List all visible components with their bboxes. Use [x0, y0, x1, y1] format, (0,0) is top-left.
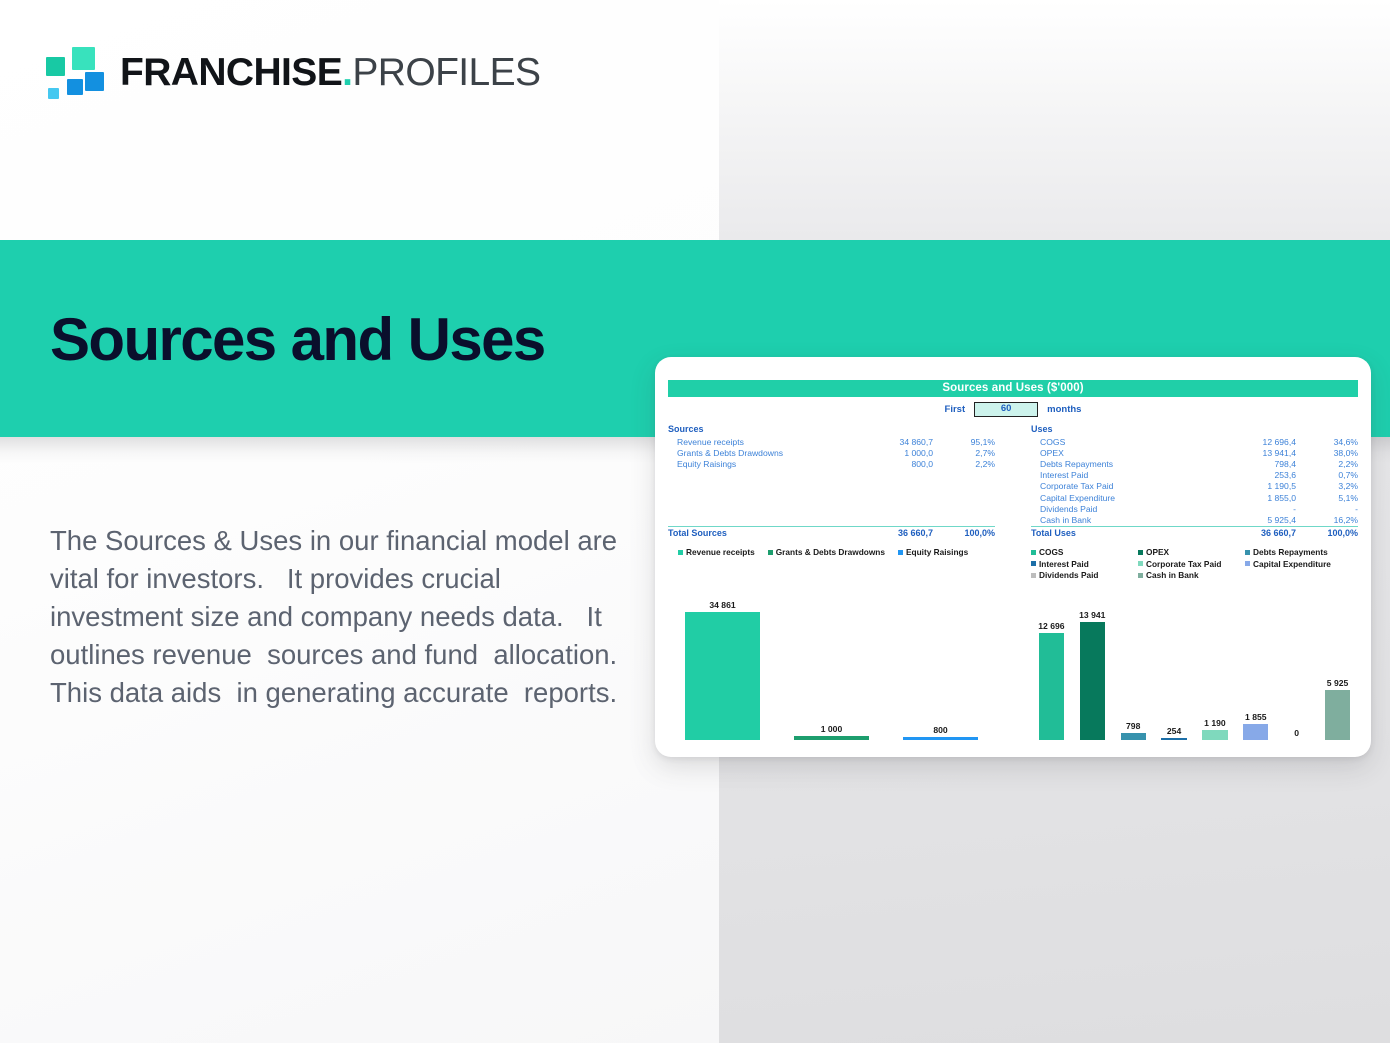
sources-table: Sources Revenue receipts 34 860,7 95,1% …	[668, 424, 995, 540]
uses-table: Uses COGS 12 696,4 34,6% OPEX 13 941,4 3…	[1031, 424, 1358, 540]
legend-swatch-icon	[1031, 573, 1036, 578]
row-label: Corporate Tax Paid	[1031, 481, 1218, 491]
spacer	[668, 481, 995, 492]
legend-swatch-icon	[678, 550, 683, 555]
bar-value-label: 13 941	[1079, 610, 1105, 620]
legend-swatch-icon	[768, 550, 773, 555]
bar-rect	[1121, 733, 1146, 740]
row-label: Dividends Paid	[1031, 504, 1218, 514]
row-percent: 2,2%	[933, 459, 995, 469]
brand-logo[interactable]: FRANCHISE.PROFILES	[46, 44, 540, 100]
row-value: 13 941,4	[1218, 448, 1296, 458]
table-row: Corporate Tax Paid 1 190,5 3,2%	[1031, 481, 1358, 492]
brand-name-bold: FRANCHISE	[120, 51, 342, 94]
bar-value-label: 5 925	[1327, 678, 1349, 688]
bar-column[interactable]: 0	[1276, 585, 1317, 740]
row-percent: 3,2%	[1296, 481, 1358, 491]
legend-swatch-icon	[1138, 573, 1143, 578]
legend-item-label: Revenue receipts	[686, 547, 755, 557]
bar-rect	[1202, 730, 1227, 740]
bar-rect	[1161, 738, 1186, 741]
legend-item-label: Capital Expenditure	[1253, 559, 1331, 569]
table-row: Cash in Bank 5 925,4 16,2%	[1031, 514, 1358, 525]
row-value: 798,4	[1218, 459, 1296, 469]
table-row: Interest Paid 253,6 0,7%	[1031, 470, 1358, 481]
table-row: COGS 12 696,4 34,6%	[1031, 436, 1358, 447]
bar-value-label: 800	[933, 725, 947, 735]
row-percent: -	[1296, 504, 1358, 514]
total-label: Total Sources	[668, 528, 855, 538]
legend-item[interactable]: Grants & Debts Drawdowns	[768, 547, 885, 557]
row-value: 12 696,4	[1218, 437, 1296, 447]
row-value: 1 000,0	[855, 448, 933, 458]
bar-value-label: 254	[1167, 726, 1181, 736]
legend-item-label: OPEX	[1146, 547, 1169, 557]
bar-column[interactable]: 1 190	[1195, 585, 1236, 740]
logo-squares-icon	[46, 47, 106, 97]
legend-item[interactable]: Cash in Bank	[1138, 570, 1245, 580]
legend-item[interactable]: Dividends Paid	[1031, 570, 1138, 580]
row-value: -	[1218, 504, 1296, 514]
legend-item-label: Grants & Debts Drawdowns	[776, 547, 885, 557]
legend-item[interactable]: OPEX	[1138, 547, 1245, 557]
legend-item-label: Cash in Bank	[1146, 570, 1199, 580]
tables-container: Sources Revenue receipts 34 860,7 95,1% …	[668, 424, 1358, 540]
row-percent: 5,1%	[1296, 493, 1358, 503]
row-value: 1 855,0	[1218, 493, 1296, 503]
spacer	[668, 514, 995, 525]
bar-value-label: 798	[1126, 721, 1140, 731]
total-label: Total Uses	[1031, 528, 1218, 538]
table-row: Equity Raisings 800,0 2,2%	[668, 458, 995, 469]
legend-item-label: COGS	[1039, 547, 1063, 557]
period-selector-row: First 60 months	[668, 402, 1358, 417]
bar-column[interactable]: 5 925	[1317, 585, 1358, 740]
legend-swatch-icon	[1245, 550, 1250, 555]
bar-value-label: 34 861	[709, 600, 735, 610]
total-percent: 100,0%	[933, 528, 995, 538]
table-row: Capital Expenditure 1 855,0 5,1%	[1031, 492, 1358, 503]
uses-total-row: Total Uses 36 660,7 100,0%	[1031, 526, 1358, 540]
legend-item[interactable]: Corporate Tax Paid	[1138, 559, 1245, 569]
row-percent: 0,7%	[1296, 470, 1358, 480]
row-label: Interest Paid	[1031, 470, 1218, 480]
sources-total-row: Total Sources 36 660,7 100,0%	[668, 526, 995, 540]
brand-name-dot: .	[342, 51, 352, 94]
sources-chart-legend: Revenue receiptsGrants & Debts Drawdowns…	[668, 547, 995, 582]
slide-canvas: FRANCHISE.PROFILES Sources and Uses The …	[0, 0, 1390, 1043]
legend-item[interactable]: COGS	[1031, 547, 1138, 557]
legend-row: COGSOPEXDebts Repayments	[1031, 547, 1358, 559]
total-percent: 100,0%	[1296, 528, 1358, 538]
period-suffix-label: months	[1047, 404, 1081, 415]
legend-swatch-icon	[1031, 550, 1036, 555]
legend-swatch-icon	[898, 550, 903, 555]
bar-column[interactable]: 12 696	[1031, 585, 1072, 740]
legends-container: Revenue receiptsGrants & Debts Drawdowns…	[668, 547, 1358, 582]
bar-rect	[1039, 633, 1064, 740]
spreadsheet-content: Sources and Uses ($'000) First 60 months…	[668, 380, 1358, 740]
page-title: Sources and Uses	[50, 305, 545, 374]
row-value: 800,0	[855, 459, 933, 469]
sources-bar-chart: 34 8611 000800	[668, 585, 995, 740]
legend-row: Revenue receiptsGrants & Debts Drawdowns…	[668, 547, 995, 559]
row-label: Equity Raisings	[668, 459, 855, 469]
bar-column[interactable]: 1 000	[777, 585, 886, 740]
spreadsheet-card: Sources and Uses ($'000) First 60 months…	[655, 357, 1371, 757]
table-row: Debts Repayments 798,4 2,2%	[1031, 458, 1358, 469]
legend-swatch-icon	[1138, 561, 1143, 566]
bar-rect	[903, 737, 977, 740]
uses-bar-chart: 12 69613 9417982541 1901 85505 925	[1031, 585, 1358, 740]
total-value: 36 660,7	[855, 528, 933, 538]
legend-item-label: Corporate Tax Paid	[1146, 559, 1221, 569]
table-row: Grants & Debts Drawdowns 1 000,0 2,7%	[668, 447, 995, 458]
bar-column[interactable]: 254	[1154, 585, 1195, 740]
period-months-input[interactable]: 60	[974, 402, 1038, 417]
row-label: OPEX	[1031, 448, 1218, 458]
row-value: 5 925,4	[1218, 515, 1296, 525]
bar-column[interactable]: 800	[886, 585, 995, 740]
sources-bars: 34 8611 000800	[668, 585, 995, 740]
bar-value-label: 1 000	[821, 724, 843, 734]
table-row: OPEX 13 941,4 38,0%	[1031, 447, 1358, 458]
table-row: Dividends Paid - -	[1031, 503, 1358, 514]
row-label: Capital Expenditure	[1031, 493, 1218, 503]
legend-item-label: Dividends Paid	[1039, 570, 1098, 580]
legend-item[interactable]: Revenue receipts	[678, 547, 755, 557]
bar-column[interactable]: 13 941	[1072, 585, 1113, 740]
legend-row: Dividends PaidCash in Bank	[1031, 570, 1358, 582]
bar-value-label: 1 190	[1204, 718, 1226, 728]
legend-item-label: Debts Repayments	[1253, 547, 1328, 557]
table-row: Revenue receipts 34 860,7 95,1%	[668, 436, 995, 447]
row-percent: 34,6%	[1296, 437, 1358, 447]
row-percent: 2,2%	[1296, 459, 1358, 469]
row-label: COGS	[1031, 437, 1218, 447]
bar-value-label: 12 696	[1038, 621, 1064, 631]
row-percent: 16,2%	[1296, 515, 1358, 525]
spacer	[668, 492, 995, 503]
bar-rect	[685, 612, 759, 740]
row-label: Debts Repayments	[1031, 459, 1218, 469]
bar-column[interactable]: 34 861	[668, 585, 777, 740]
bar-rect	[1325, 690, 1350, 740]
bar-column[interactable]: 1 855	[1235, 585, 1276, 740]
legend-swatch-icon	[1031, 561, 1036, 566]
total-value: 36 660,7	[1218, 528, 1296, 538]
row-value: 253,6	[1218, 470, 1296, 480]
row-percent: 2,7%	[933, 448, 995, 458]
sheet-title-bar: Sources and Uses ($'000)	[668, 380, 1358, 397]
uses-table-header: Uses	[1031, 424, 1358, 436]
brand-name-thin: PROFILES	[352, 51, 540, 94]
brand-wordmark: FRANCHISE.PROFILES	[120, 53, 540, 92]
legend-swatch-icon	[1245, 561, 1250, 566]
bar-column[interactable]: 798	[1113, 585, 1154, 740]
legend-item[interactable]: Debts Repayments	[1245, 547, 1352, 557]
legend-item[interactable]: Interest Paid	[1031, 559, 1138, 569]
uses-bars: 12 69613 9417982541 1901 85505 925	[1031, 585, 1358, 740]
row-label: Grants & Debts Drawdowns	[668, 448, 855, 458]
row-value: 1 190,5	[1218, 481, 1296, 491]
legend-item[interactable]: Capital Expenditure	[1245, 559, 1352, 569]
bar-rect	[794, 736, 868, 740]
sources-rows: Revenue receipts 34 860,7 95,1% Grants &…	[668, 436, 995, 470]
period-prefix-label: First	[945, 404, 966, 415]
spacer	[668, 470, 995, 481]
sources-table-header: Sources	[668, 424, 995, 436]
uses-chart-legend: COGSOPEXDebts Repayments Interest PaidCo…	[1031, 547, 1358, 582]
row-value: 34 860,7	[855, 437, 933, 447]
row-percent: 38,0%	[1296, 448, 1358, 458]
bar-value-label: 0	[1294, 728, 1299, 738]
spacer	[668, 503, 995, 514]
legend-item-label: Equity Raisings	[906, 547, 968, 557]
bar-rect	[1243, 724, 1268, 740]
legend-item[interactable]: Equity Raisings	[898, 547, 968, 557]
bar-value-label: 1 855	[1245, 712, 1267, 722]
legend-item-label: Interest Paid	[1039, 559, 1089, 569]
row-label: Cash in Bank	[1031, 515, 1218, 525]
bar-rect	[1080, 622, 1105, 740]
charts-container: 34 8611 000800 12 69613 9417982541 1901 …	[668, 585, 1358, 740]
row-label: Revenue receipts	[668, 437, 855, 447]
row-percent: 95,1%	[933, 437, 995, 447]
body-paragraph: The Sources & Uses in our financial mode…	[50, 522, 620, 712]
legend-row: Interest PaidCorporate Tax PaidCapital E…	[1031, 558, 1358, 570]
background-right-top-panel	[719, 0, 1390, 240]
uses-rows: COGS 12 696,4 34,6% OPEX 13 941,4 38,0% …	[1031, 436, 1358, 526]
legend-swatch-icon	[1138, 550, 1143, 555]
